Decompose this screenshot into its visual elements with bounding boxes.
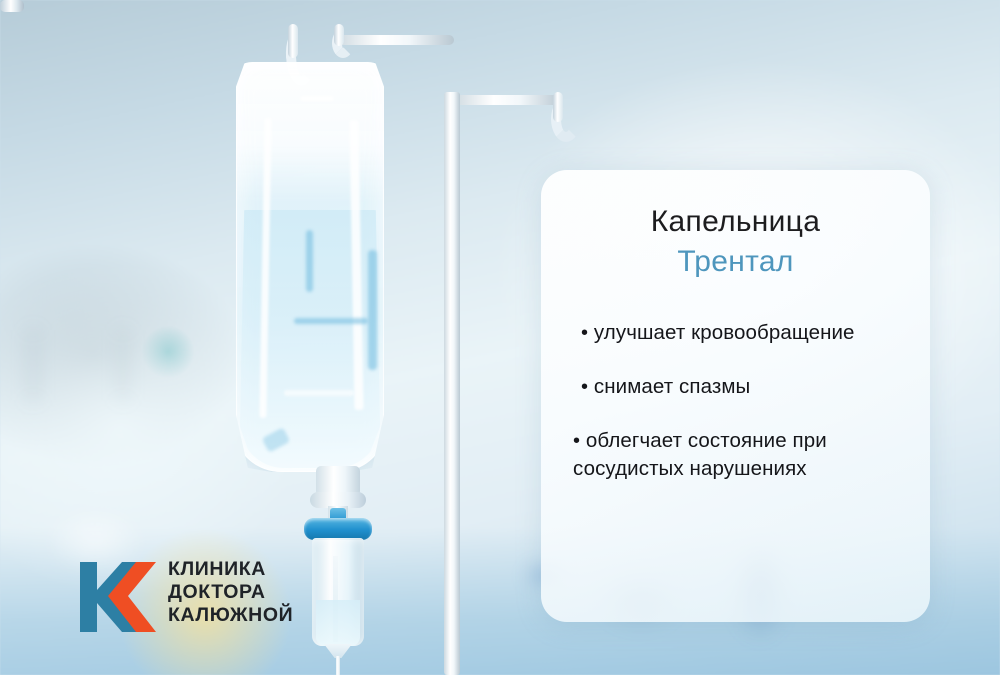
iv-tubing-line: [336, 656, 340, 675]
iv-bag-blue-tint: [368, 250, 377, 370]
clinic-logo: КЛИНИКА ДОКТОРА КАЛЮЖНОЙ: [78, 556, 310, 640]
iv-hook-left-stem: [288, 24, 298, 58]
iv-bag-blue-tint: [294, 318, 368, 324]
iv-stand-cap: [0, 0, 24, 12]
bullet-dot-icon: •: [581, 322, 588, 344]
benefit-text: облегчает состояние при сосудистых наруш…: [573, 429, 827, 480]
iv-bag-crease: [300, 96, 334, 101]
iv-hook-right-stem: [553, 92, 563, 122]
benefit-list-item: • снимает спазмы: [567, 373, 904, 401]
benefit-list-item: • улучшает кровообращение: [567, 319, 904, 347]
logo-line-2: ДОКТОРА: [168, 581, 293, 604]
logo-line-3: КАЛЮЖНОЙ: [168, 604, 293, 627]
benefit-list: • улучшает кровообращение • снимает спаз…: [563, 319, 908, 482]
card-title-drug: Трентал: [563, 242, 908, 281]
benefit-text: снимает спазмы: [594, 375, 750, 398]
benefit-text: улучшает кровообращение: [594, 321, 855, 344]
clinic-logo-text: КЛИНИКА ДОКТОРА КАЛЮЖНОЙ: [168, 558, 293, 626]
logo-double-k-icon: [78, 560, 160, 634]
bullet-dot-icon: •: [573, 430, 580, 452]
drip-chamber-blue-cap: [304, 518, 372, 540]
iv-stand-pole: [444, 92, 460, 675]
iv-hook-center-stem: [334, 24, 344, 46]
logo-line-1: КЛИНИКА: [168, 558, 293, 581]
iv-bag-blue-tint: [306, 230, 313, 292]
bullet-dot-icon: •: [581, 376, 588, 398]
iv-bag-crease: [284, 390, 354, 396]
benefit-list-item: • облегчает состояние при сосудистых нар…: [567, 427, 904, 482]
drip-chamber-fluid: [316, 600, 360, 646]
iv-stand-right-arm: [452, 95, 562, 105]
info-card: Капельница Трентал • улучшает кровообращ…: [541, 170, 930, 622]
card-title-main: Капельница: [563, 204, 908, 239]
